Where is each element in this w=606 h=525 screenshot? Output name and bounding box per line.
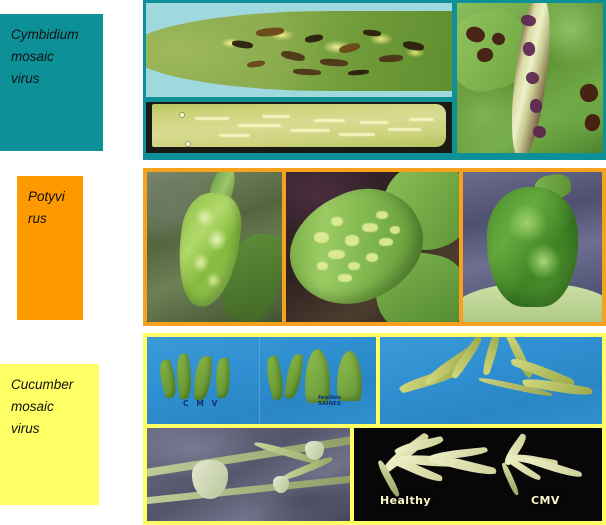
row-potyvirus [143,168,606,326]
label-cucumber-mosaic-virus: Cucumber mosaic virus [0,364,99,505]
label-potyvirus: Potyvi rus [17,176,83,320]
streaked-leaf-shape [152,104,446,147]
photo-cmv-leaf-comparison: C M V feuilles SAINES [147,337,376,424]
rounded-deformed-leaf [487,187,579,307]
row-cymbidium-mosaic-virus [143,0,606,160]
panel-divider [259,337,260,424]
photo-cymbidium-leaf-spots [146,3,452,97]
caption-healthy-flower: Healthy [380,494,431,507]
photo-potyvirus-deformed-pod [147,172,282,322]
photo-cmv-flower-compare: Healthy CMV [354,428,602,521]
photo-cymbidium-leaf-streak [146,102,452,153]
photo-potyvirus-mosaic-leaf [286,172,459,322]
photo-potyvirus-round-leaf [463,172,602,322]
virus-symptom-figure: Cymbidium mosaic virus Potyvi rus Cucumb… [0,0,606,525]
caption-cmv-leaves: C M V [183,399,220,408]
photo-cmv-flower-bud [147,428,350,521]
caption-cmv-flower: CMV [531,494,560,507]
caption-healthy-leaves-fr: feuilles SAINES [318,395,341,408]
caption-line-2: SAINES [318,401,341,407]
photo-cymbidium-pod-necrosis [457,3,603,153]
leaf-blade-shape [146,11,452,92]
photo-cmv-yellow-shoot [380,337,602,424]
label-cymbidium-mosaic-virus: Cymbidium mosaic virus [0,14,103,151]
row-cucumber-mosaic-virus: C M V feuilles SAINES [143,333,606,525]
